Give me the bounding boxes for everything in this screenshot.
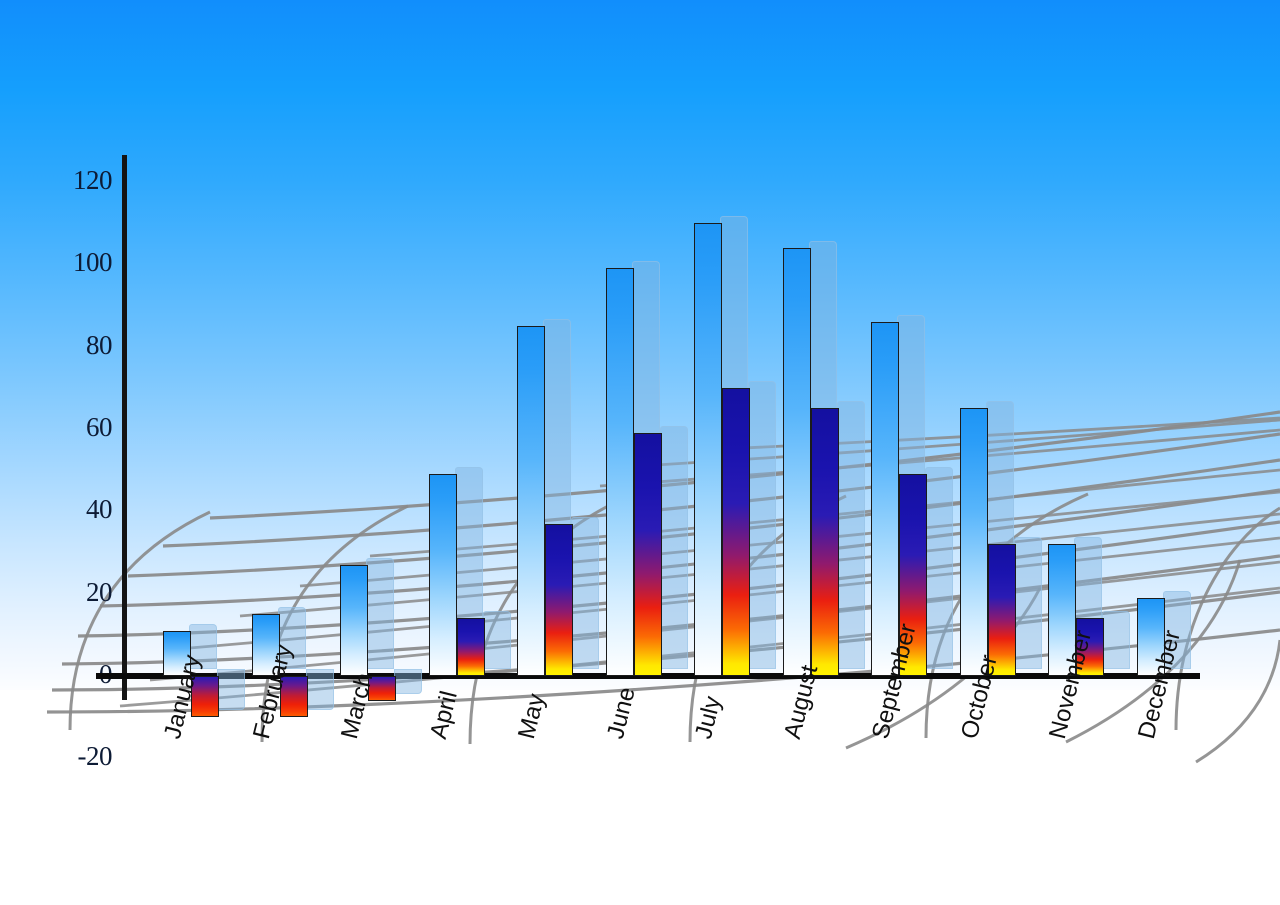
y-axis-tick-label: 40 [42,494,112,525]
bar-series1[interactable] [606,268,634,676]
bar-shadow-series2 [571,517,599,669]
bar-shadow-series2 [1102,611,1130,669]
y-axis-tick-label: -20 [42,741,112,772]
y-axis-tick-label: 80 [42,330,112,361]
bar-series1[interactable] [429,474,457,676]
bar-shadow-series2 [306,669,334,710]
y-axis-tick-label: 120 [42,165,112,196]
y-axis-tick-label: 60 [42,412,112,443]
x-axis-category-label: April [425,688,464,741]
bar-series1[interactable] [340,565,368,676]
chart-container: -20020406080100120JanuaryFebruaryMarchAp… [0,0,1280,905]
bar-series2[interactable] [634,433,662,676]
bar-series2[interactable] [722,388,750,676]
plot-area: -20020406080100120JanuaryFebruaryMarchAp… [0,0,1280,905]
bar-shadow-series1 [366,558,394,669]
bar-series1[interactable] [694,223,722,676]
bar-shadow-series2 [483,611,511,669]
bar-series1[interactable] [783,248,811,676]
bar-series2[interactable] [811,408,839,676]
x-axis-category-label: March [336,670,379,741]
bar-shadow-series2 [925,467,953,669]
x-axis-category-label: June [602,684,642,741]
bar-shadow-series2 [837,401,865,669]
bar-shadow-series2 [394,669,422,694]
bar-series1[interactable] [960,408,988,676]
bar-series1[interactable] [517,326,545,676]
bar-series2[interactable] [457,618,485,676]
y-axis-tick-label: 100 [42,247,112,278]
y-axis-line [122,155,127,700]
bar-shadow-series2 [660,426,688,669]
bar-shadow-series2 [217,669,245,710]
x-axis-category-label: May [513,691,551,742]
bar-shadow-series2 [1014,537,1042,669]
bar-series2[interactable] [545,524,573,676]
bar-shadow-series2 [748,381,776,669]
y-axis-tick-label: 20 [42,577,112,608]
x-axis-category-label: July [690,694,727,742]
